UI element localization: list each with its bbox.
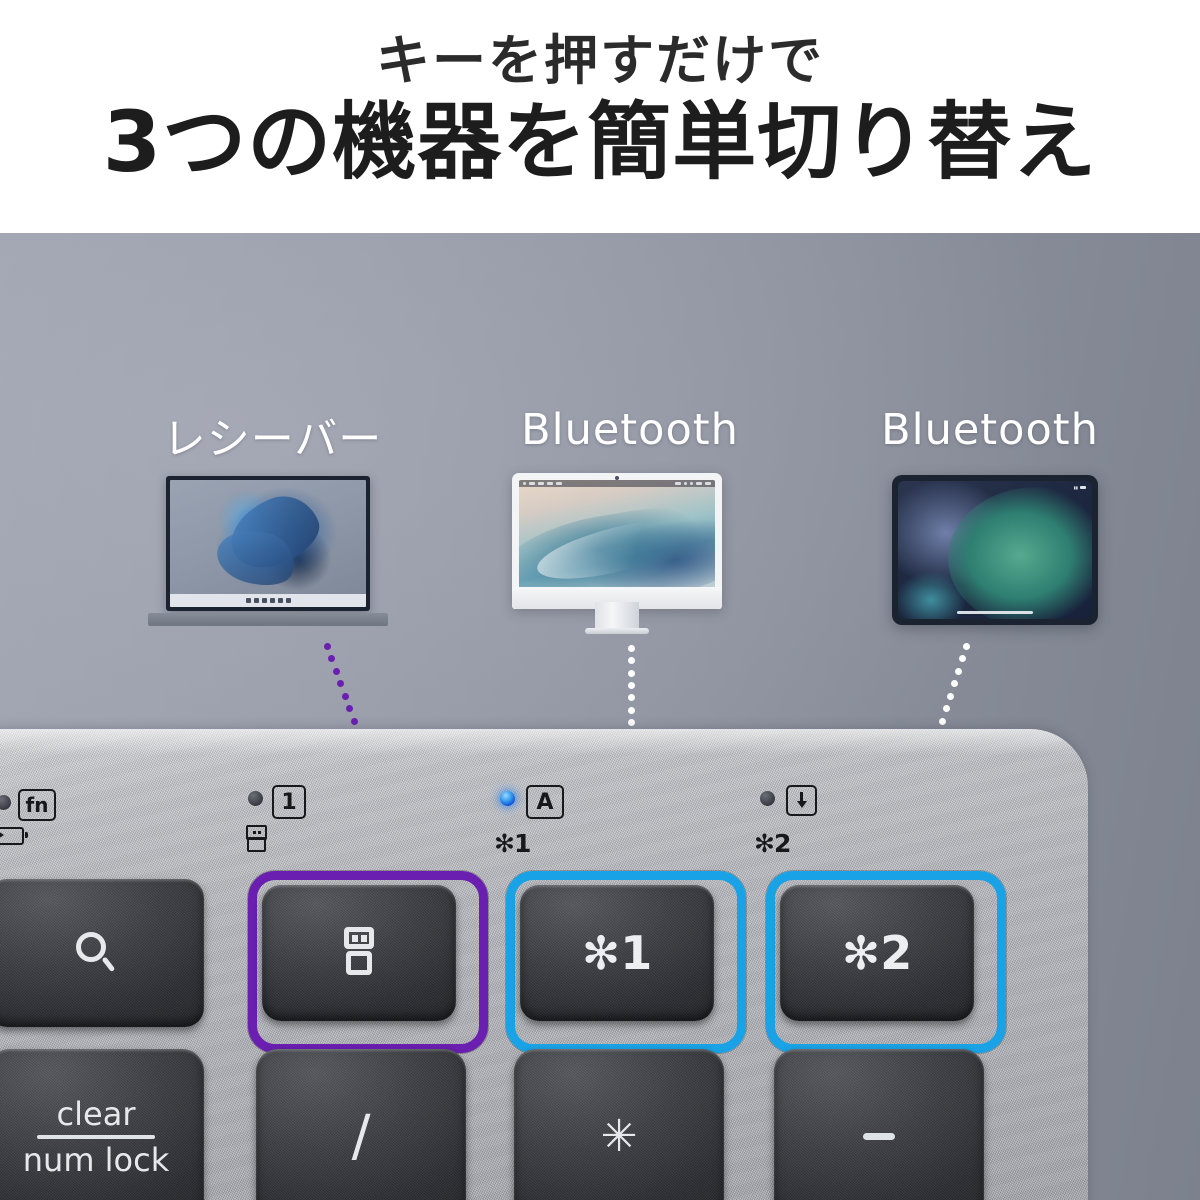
laptop-base xyxy=(148,613,388,626)
imac-screen xyxy=(519,480,715,591)
bluetooth1-key[interactable]: ✻ 1 xyxy=(520,885,714,1021)
bluetooth2-key[interactable]: ✻ 2 xyxy=(780,885,974,1021)
device-label-bluetooth-1: Bluetooth xyxy=(455,405,805,455)
receiver-dongle-icon xyxy=(246,825,263,849)
bluetooth1-chassis-label: ✻1 xyxy=(494,829,530,858)
product-feature-banner: キーを押すだけで 3つの機器を簡単切り替え レシーバー Bluetooth Bl… xyxy=(0,0,1200,1200)
capslock-label: A xyxy=(526,785,564,819)
headline-band: キーを押すだけで 3つの機器を簡単切り替え xyxy=(0,0,1200,233)
minus-key[interactable] xyxy=(774,1049,984,1200)
key-divider xyxy=(37,1135,155,1139)
headline-title: 3つの機器を簡単切り替え xyxy=(0,98,1200,186)
clear-label: clear xyxy=(57,1098,136,1130)
windows-taskbar xyxy=(170,594,366,607)
slash-key[interactable]: / xyxy=(256,1049,466,1200)
slot1-label: 1 xyxy=(272,785,306,819)
bluetooth1-number: 1 xyxy=(620,930,652,976)
keyboard-body: fn 1 A ✻1 ✻2 xyxy=(0,729,1088,1200)
search-icon xyxy=(76,932,116,974)
tablet-body: ▮▮ xyxy=(892,475,1098,625)
keyboard-top-highlight xyxy=(0,729,1088,755)
imac-stand-foot xyxy=(585,628,649,634)
laptop-screen xyxy=(170,480,366,607)
clear-numlock-key[interactable]: clear num lock xyxy=(0,1049,204,1200)
slash-label: / xyxy=(352,1109,371,1165)
search-key[interactable] xyxy=(0,879,204,1027)
scroll-led xyxy=(760,791,775,806)
imac-stand-neck xyxy=(595,602,639,628)
bluetooth-icon: ✻ xyxy=(842,930,879,976)
minus-icon xyxy=(863,1133,895,1140)
home-indicator xyxy=(957,611,1033,614)
bluetooth2-chassis-label: ✻2 xyxy=(754,829,790,858)
desktop-device xyxy=(512,473,722,638)
laptop-device xyxy=(148,476,388,626)
tablet-device: ▮▮ xyxy=(892,475,1098,625)
headline-subtitle: キーを押すだけで xyxy=(0,34,1200,88)
fn-label: fn xyxy=(18,789,56,821)
numlock-label: num lock xyxy=(23,1144,170,1176)
laptop-lid xyxy=(166,476,370,611)
scroll-lock-arrow-icon xyxy=(786,785,817,816)
receiver-key[interactable] xyxy=(262,885,456,1021)
battery-icon xyxy=(0,827,24,845)
macos-menubar xyxy=(519,480,715,487)
slot-led xyxy=(248,791,263,806)
tablet-screen: ▮▮ xyxy=(898,481,1092,619)
bluetooth-icon: ✻ xyxy=(582,930,619,976)
bluetooth-led xyxy=(500,791,515,806)
asterisk-key[interactable]: ✳ xyxy=(514,1049,724,1200)
usb-dongle-icon xyxy=(341,927,377,979)
tablet-statusbar: ▮▮ xyxy=(1074,485,1086,490)
device-label-receiver: レシーバー xyxy=(95,405,450,467)
product-photo: レシーバー Bluetooth Bluetooth xyxy=(0,233,1200,1200)
asterisk-label: ✳ xyxy=(601,1115,638,1159)
battery-led xyxy=(0,795,11,810)
bluetooth2-number: 2 xyxy=(880,930,912,976)
device-label-bluetooth-2: Bluetooth xyxy=(815,405,1165,455)
